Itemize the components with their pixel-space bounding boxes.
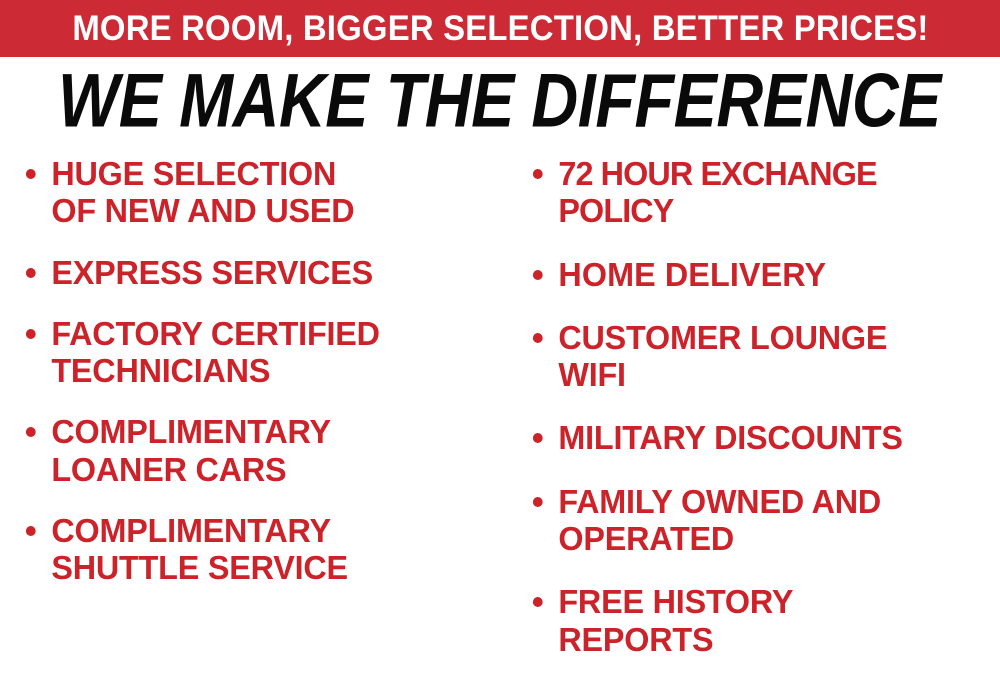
bullet-dot-icon — [533, 597, 543, 607]
list-item-label: CUSTOMER LOUNGE WIFI — [558, 319, 988, 394]
list-item: COMPLIMENTARY SHUTTLE SERVICE — [20, 512, 489, 587]
main-headline-area: WE MAKE THE DIFFERENCE — [0, 62, 1000, 140]
page-title: WE MAKE THE DIFFERENCE — [59, 63, 942, 139]
bullet-dot-icon — [533, 433, 543, 443]
list-item: HOME DELIVERY — [527, 256, 989, 293]
list-item: MILITARY DISCOUNTS — [527, 419, 989, 456]
list-item-label: FREE HISTORY REPORTS — [558, 583, 988, 658]
list-item-label: HOME DELIVERY — [558, 256, 988, 293]
list-item: FAMILY OWNED AND OPERATED — [527, 483, 989, 558]
bullet-dot-icon — [533, 169, 543, 179]
bullet-dot-icon — [26, 268, 36, 278]
list-item-label: FAMILY OWNED AND OPERATED — [558, 483, 988, 558]
list-item: HUGE SELECTION OF NEW AND USED — [20, 155, 489, 230]
list-item-label: MILITARY DISCOUNTS — [558, 419, 988, 456]
benefits-column-left: HUGE SELECTION OF NEW AND USED EXPRESS S… — [0, 155, 505, 694]
bullet-dot-icon — [26, 329, 36, 339]
list-item: FREE HISTORY REPORTS — [527, 583, 989, 658]
benefits-list-right: 72 HOUR EXCHANGE POLICY HOME DELIVERY CU… — [527, 155, 998, 658]
list-item-label: COMPLIMENTARY SHUTTLE SERVICE — [51, 512, 489, 587]
dealership-promo-poster: MORE ROOM, BIGGER SELECTION, BETTER PRIC… — [0, 0, 1000, 694]
list-item-label: EXPRESS SERVICES — [51, 254, 489, 291]
list-item: 72 HOUR EXCHANGE POLICY — [527, 155, 989, 230]
list-item-label: 72 HOUR EXCHANGE POLICY — [558, 155, 988, 230]
bullet-dot-icon — [533, 270, 543, 280]
benefits-column-right: 72 HOUR EXCHANGE POLICY HOME DELIVERY CU… — [505, 155, 1000, 694]
list-item-label: FACTORY CERTIFIED TECHNICIANS — [51, 315, 489, 390]
bullet-dot-icon — [26, 526, 36, 536]
banner-headline-text: MORE ROOM, BIGGER SELECTION, BETTER PRIC… — [72, 11, 928, 46]
benefits-columns: HUGE SELECTION OF NEW AND USED EXPRESS S… — [0, 155, 1000, 694]
bullet-dot-icon — [533, 333, 543, 343]
top-banner: MORE ROOM, BIGGER SELECTION, BETTER PRIC… — [0, 0, 1000, 57]
list-item: EXPRESS SERVICES — [20, 254, 489, 291]
list-item-label: COMPLIMENTARY LOANER CARS — [51, 413, 489, 488]
benefits-list-left: HUGE SELECTION OF NEW AND USED EXPRESS S… — [20, 155, 499, 587]
bullet-dot-icon — [26, 427, 36, 437]
bullet-dot-icon — [26, 169, 36, 179]
list-item: FACTORY CERTIFIED TECHNICIANS — [20, 315, 489, 390]
list-item-label: HUGE SELECTION OF NEW AND USED — [51, 155, 489, 230]
list-item: CUSTOMER LOUNGE WIFI — [527, 319, 989, 394]
list-item: COMPLIMENTARY LOANER CARS — [20, 413, 489, 488]
bullet-dot-icon — [533, 497, 543, 507]
